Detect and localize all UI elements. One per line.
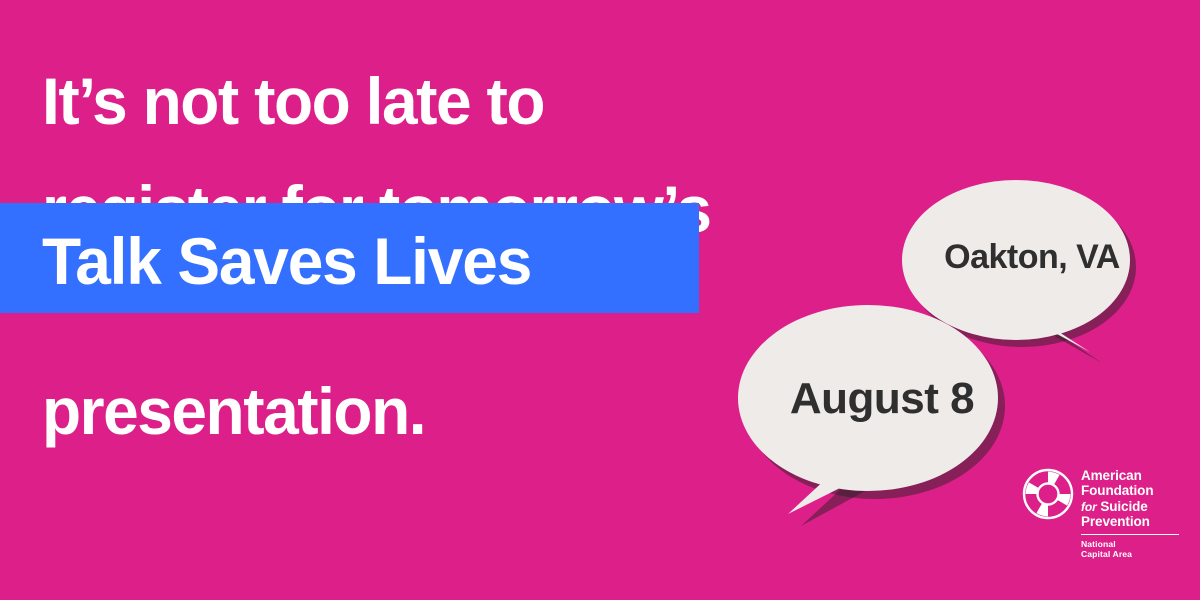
afsp-line-american: American [1081,468,1190,483]
afsp-logo: American Foundation for Suicide Preventi… [1022,466,1190,570]
afsp-suicide-word: Suicide [1100,499,1147,514]
afsp-divider [1081,534,1179,535]
speech-bubble-date-text: August 8 [762,374,1002,424]
afsp-line-for-suicide: for Suicide [1081,499,1190,515]
afsp-line-prevention: Prevention [1081,514,1190,529]
speech-bubble-location-text: Oakton, VA [927,238,1137,277]
afsp-chapter-line-2: Capital Area [1081,549,1190,559]
life-ring-icon [1022,468,1074,520]
afsp-wordmark: American Foundation for Suicide Preventi… [1081,466,1190,560]
afsp-for-word: for [1081,500,1097,514]
afsp-chapter-line-1: National [1081,539,1190,549]
headline-line-4: presentation. [42,378,425,444]
afsp-line-foundation: Foundation [1081,483,1190,498]
headline-line-3-highlighted: Talk Saves Lives [42,228,531,294]
poster-canvas: It’s not too late to register for tomorr… [0,0,1200,600]
speech-bubble-date: August 8 [736,302,1026,532]
headline-line-1: It’s not too late to [42,68,544,134]
